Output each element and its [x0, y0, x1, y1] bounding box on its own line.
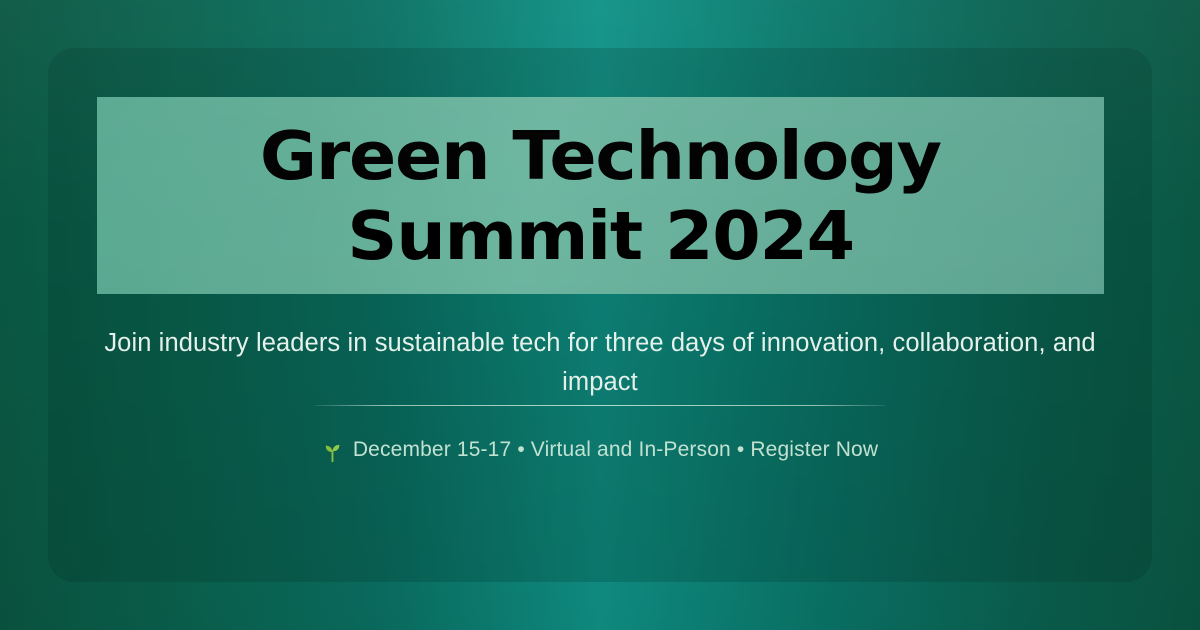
seedling-icon: [322, 439, 344, 463]
title-banner: Green Technology Summit 2024: [97, 97, 1104, 294]
footer-text: December 15-17 • Virtual and In-Person •…: [353, 436, 878, 464]
poster-card: Green Technology Summit 2024 Join indust…: [48, 48, 1152, 582]
divider: [315, 405, 885, 406]
page-title-line-1: Green Technology: [260, 116, 941, 196]
event-poster: Green Technology Summit 2024 Join indust…: [0, 0, 1200, 630]
subtitle-text: Join industry leaders in sustainable tec…: [95, 324, 1105, 402]
footer-details: December 15-17 • Virtual and In-Person •…: [322, 436, 878, 464]
page-title-line-2: Summit 2024: [347, 196, 854, 276]
